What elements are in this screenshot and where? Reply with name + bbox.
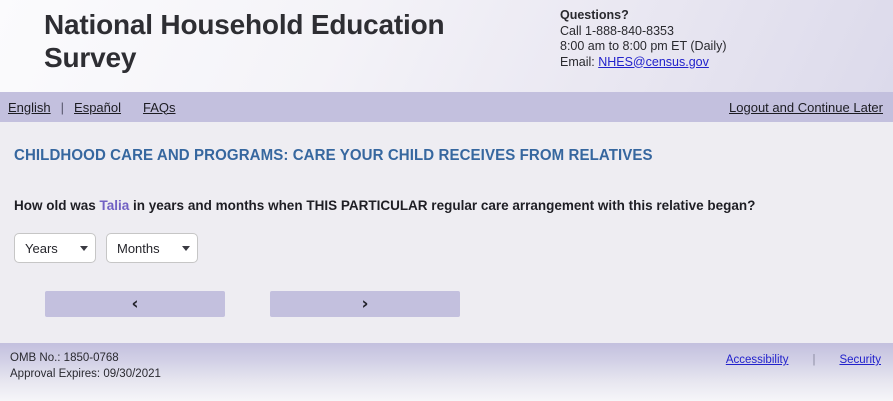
footer-omb-block: OMB No.: 1850-0768 Approval Expires: 09/… xyxy=(10,350,161,382)
chevron-down-icon xyxy=(80,246,88,251)
back-button[interactable]: ‹ xyxy=(45,291,225,317)
question-part-2: in years and months when THIS PARTICULAR… xyxy=(129,198,755,213)
logout-continue-later-link[interactable]: Logout and Continue Later xyxy=(725,100,887,115)
questions-label: Questions? xyxy=(560,8,727,24)
email-label: Email: xyxy=(560,55,598,69)
security-link[interactable]: Security xyxy=(837,354,883,366)
months-dropdown-value: Months xyxy=(117,241,176,256)
omb-number: OMB No.: 1850-0768 xyxy=(10,350,161,366)
email-link[interactable]: NHES@census.gov xyxy=(598,55,709,69)
page-header: National Household Education Survey Ques… xyxy=(0,0,893,92)
nav-link-english[interactable]: English xyxy=(4,100,55,115)
answer-select-row: Years Months xyxy=(14,233,198,263)
footer-links: Accessibility | Security xyxy=(724,354,883,366)
nav-left-group: English | Español FAQs xyxy=(4,92,180,122)
chevron-down-icon xyxy=(182,246,190,251)
next-button[interactable]: › xyxy=(270,291,460,317)
footer-separator: | xyxy=(790,354,837,366)
contact-phone: Call 1-888-840-8353 xyxy=(560,24,727,40)
nav-right-group: Logout and Continue Later xyxy=(725,92,887,122)
chevron-left-icon: ‹ xyxy=(131,296,138,313)
question-text: How old was Talia in years and months wh… xyxy=(14,198,755,213)
nav-link-espanol[interactable]: Español xyxy=(70,100,125,115)
approval-expires: Approval Expires: 09/30/2021 xyxy=(10,366,161,382)
main-content: CHILDHOOD CARE AND PROGRAMS: CARE YOUR C… xyxy=(0,122,893,343)
contact-info-block: Questions? Call 1-888-840-8353 8:00 am t… xyxy=(560,8,727,70)
section-heading: CHILDHOOD CARE AND PROGRAMS: CARE YOUR C… xyxy=(14,147,653,165)
contact-hours: 8:00 am to 8:00 pm ET (Daily) xyxy=(560,39,727,55)
child-name: Talia xyxy=(100,198,130,213)
nav-link-faqs[interactable]: FAQs xyxy=(139,100,180,115)
page-footer: OMB No.: 1850-0768 Approval Expires: 09/… xyxy=(0,343,893,401)
chevron-right-icon: › xyxy=(361,296,368,313)
years-dropdown[interactable]: Years xyxy=(14,233,96,263)
years-dropdown-value: Years xyxy=(25,241,74,256)
accessibility-link[interactable]: Accessibility xyxy=(724,354,791,366)
months-dropdown[interactable]: Months xyxy=(106,233,198,263)
contact-email-line: Email: NHES@census.gov xyxy=(560,55,727,71)
site-title: National Household Education Survey xyxy=(44,8,524,74)
question-part-1: How old was xyxy=(14,198,100,213)
nav-separator: | xyxy=(55,100,70,115)
navigation-bar: English | Español FAQs Logout and Contin… xyxy=(0,92,893,122)
